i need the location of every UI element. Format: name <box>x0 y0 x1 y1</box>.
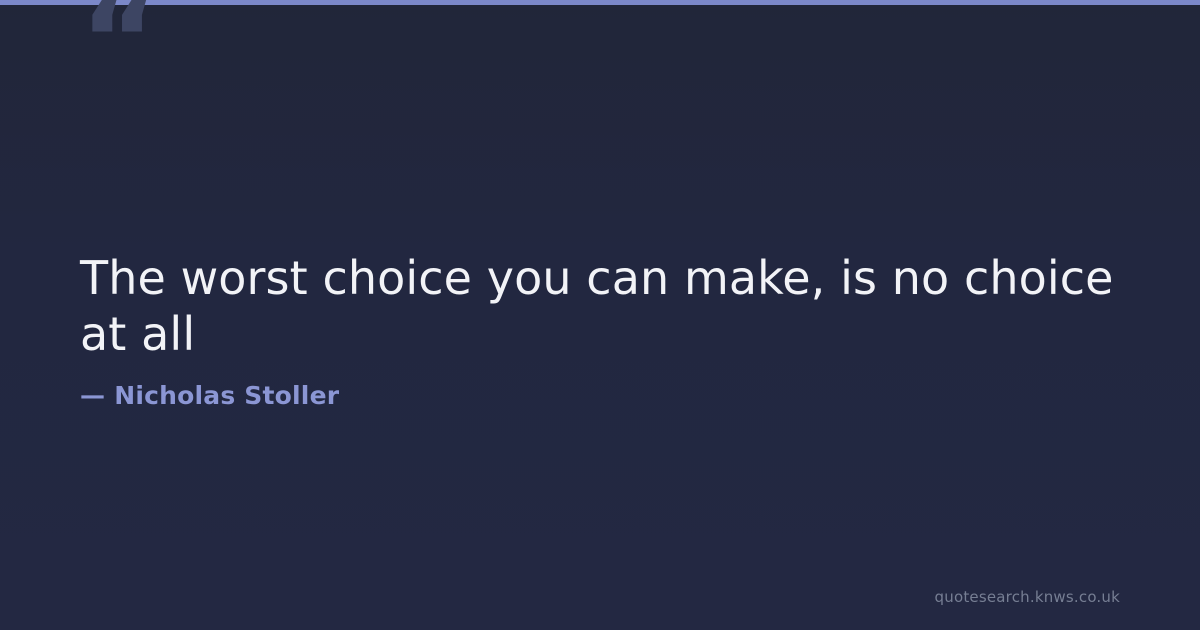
quote-attribution: —Nicholas Stoller <box>80 380 1120 411</box>
em-dash: — <box>80 380 105 411</box>
opening-quotation-mark-icon: “ <box>80 0 157 102</box>
author-name: Nicholas Stoller <box>114 381 339 410</box>
quote-card: “ The worst choice you can make, is no c… <box>0 0 1200 630</box>
top-accent-bar <box>0 0 1200 5</box>
site-watermark: quotesearch.knws.co.uk <box>935 588 1120 606</box>
quote-content: The worst choice you can make, is no cho… <box>80 250 1120 411</box>
quote-text: The worst choice you can make, is no cho… <box>80 250 1120 362</box>
